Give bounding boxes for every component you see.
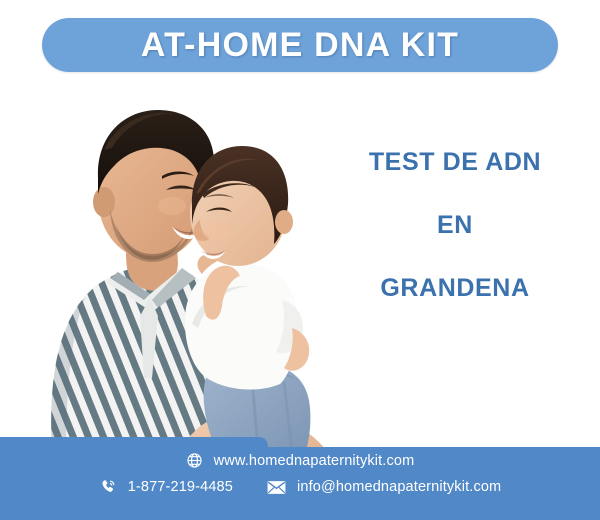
header-badge-label: AT-HOME DNA KIT — [141, 26, 459, 65]
footer-website-row: www.homednapaternitykit.com — [186, 452, 415, 469]
website-label: www.homednapaternitykit.com — [214, 453, 415, 469]
headline-block: TEST DE ADN EN GRANDENA — [320, 150, 590, 301]
family-photo — [0, 78, 330, 450]
header-badge: AT-HOME DNA KIT — [42, 18, 558, 72]
phone-item[interactable]: 1-877-219-4485 — [99, 478, 233, 496]
phone-icon — [99, 478, 117, 496]
footer-contacts: www.homednapaternitykit.com 1-877-219-44… — [0, 452, 600, 520]
footer-bottom-row: 1-877-219-4485 info@homednapaternitykit.… — [99, 478, 502, 496]
headline-line-2: EN — [320, 213, 590, 238]
envelope-icon — [267, 480, 286, 495]
poster-canvas: AT-HOME DNA KIT — [0, 0, 600, 520]
phone-label: 1-877-219-4485 — [128, 479, 233, 495]
headline-line-1: TEST DE ADN — [320, 150, 590, 175]
website-item[interactable]: www.homednapaternitykit.com — [186, 452, 415, 469]
email-item[interactable]: info@homednapaternitykit.com — [267, 479, 501, 495]
headline-line-3: GRANDENA — [320, 276, 590, 301]
email-label: info@homednapaternitykit.com — [297, 479, 501, 495]
globe-icon — [186, 452, 203, 469]
